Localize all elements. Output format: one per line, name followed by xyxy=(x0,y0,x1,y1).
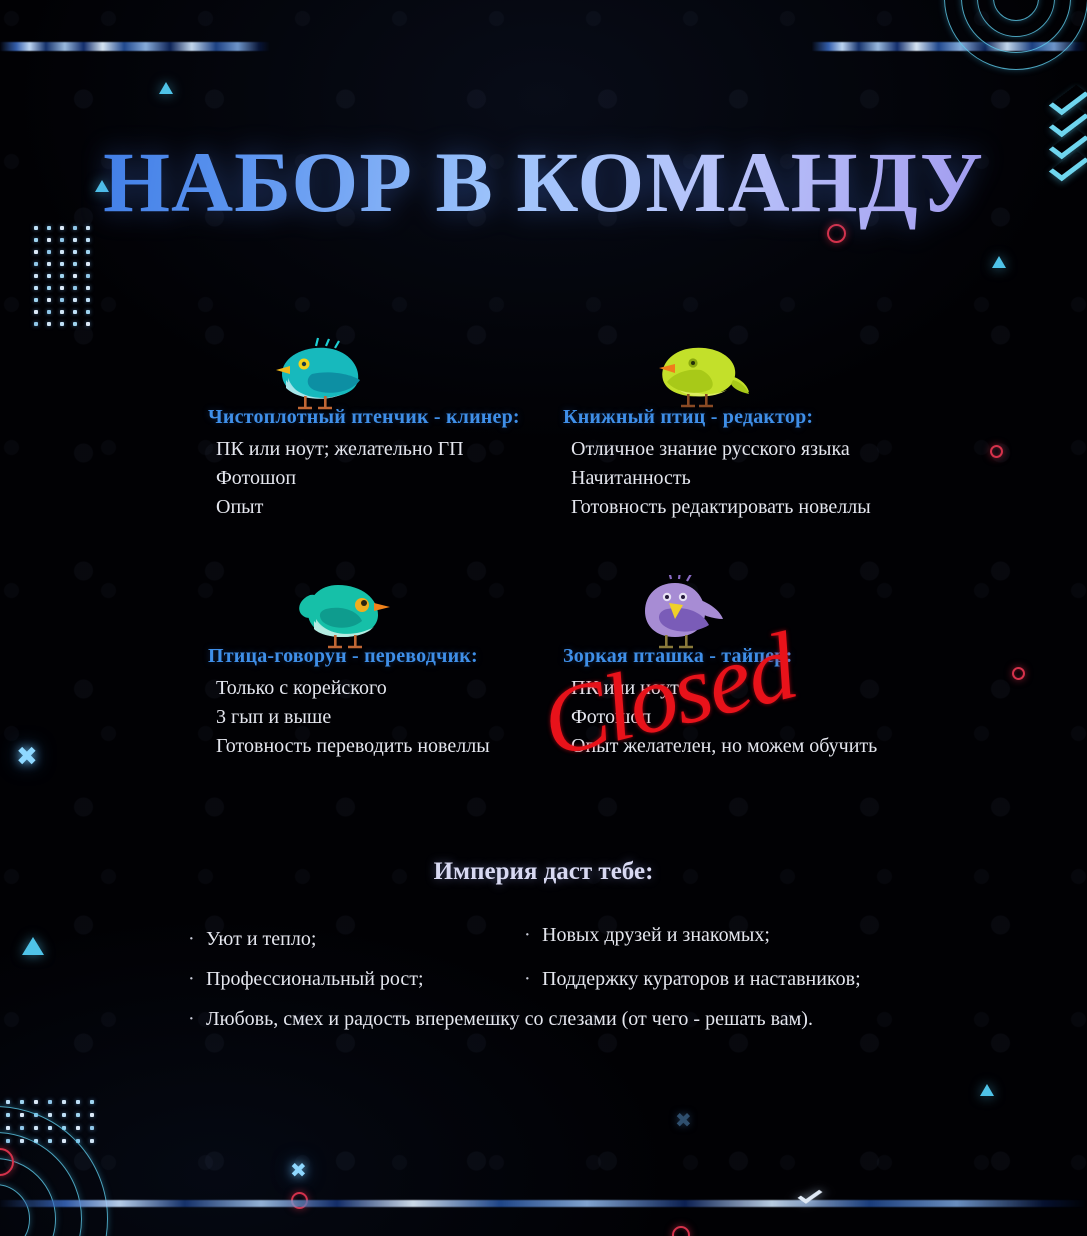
perk-bullet: · xyxy=(188,968,206,991)
job-heading: Зоркая пташка - тайпер: xyxy=(563,645,963,668)
triangle-accent-upper-right xyxy=(992,256,1006,268)
job-requirement: Опыт желателен, но можем обучить xyxy=(563,732,963,761)
perk-bullet: · xyxy=(188,928,206,951)
bird-green-editor-icon xyxy=(653,336,749,410)
perk-label: Новых друзей и знакомых; xyxy=(542,924,770,946)
job-requirement: Фотошоп xyxy=(208,464,608,493)
job-requirement: Опыт xyxy=(208,493,608,522)
job-requirement: Готовность переводить новеллы xyxy=(208,732,608,761)
job-card-typer: Зоркая пташка - тайпер: ПК или ноут Фото… xyxy=(563,645,963,761)
perk-item: ·Уют и тепло; xyxy=(188,928,316,951)
perk-bullet: · xyxy=(524,924,542,947)
job-requirement: Начитанность xyxy=(563,464,963,493)
job-heading: Птица-говорун - переводчик: xyxy=(208,645,608,668)
page-title: НАБОР В КОМАНДУ xyxy=(0,132,1087,232)
bottom-streak-bar xyxy=(0,1200,1087,1207)
perk-item: ·Новых друзей и знакомых; xyxy=(524,924,770,947)
x-marker-bottom-center: ✖ xyxy=(675,1110,692,1130)
perk-label: Профессиональный рост; xyxy=(206,968,424,990)
top-streak-bar-left xyxy=(0,42,270,51)
job-requirement: Готовность редактировать новеллы xyxy=(563,493,963,522)
job-requirement: Только с корейского xyxy=(208,674,608,703)
perk-label: Поддержку кураторов и наставников; xyxy=(542,968,861,990)
perk-bullet: · xyxy=(524,968,542,991)
job-card-translator: Птица-говорун - переводчик: Только с кор… xyxy=(208,645,608,761)
perk-bullet: · xyxy=(188,1008,206,1031)
job-requirements: Только с корейского 3 гып и выше Готовно… xyxy=(208,674,608,761)
job-requirement: Отличное знание русского языка xyxy=(563,435,963,464)
job-requirement: ПК или ноут; желательно ГП xyxy=(208,435,608,464)
recruitment-poster: ✖ ✖ ✖ НАБОР В КОМАНДУ xyxy=(0,0,1087,1236)
job-requirement: 3 гып и выше xyxy=(208,703,608,732)
perk-item: ·Поддержку кураторов и наставников; xyxy=(524,968,861,991)
crimson-ring-mid-right xyxy=(990,445,1003,458)
perk-item: ·Любовь, смех и радость вперемешку со сл… xyxy=(188,1008,813,1031)
job-requirements: Отличное знание русского языка Начитанно… xyxy=(563,435,963,522)
x-marker-bottom-left: ✖ xyxy=(290,1160,307,1180)
triangle-accent-left xyxy=(22,937,44,955)
triangle-accent-bottom-right xyxy=(980,1084,994,1096)
bird-turquoise-translator-icon xyxy=(296,575,392,649)
perk-label: Любовь, смех и радость вперемешку со сле… xyxy=(206,1008,813,1030)
x-marker-left: ✖ xyxy=(16,744,38,770)
perk-item: ·Профессиональный рост; xyxy=(188,968,424,991)
job-requirement: ПК или ноут xyxy=(563,674,963,703)
triangle-accent-top xyxy=(159,82,173,94)
perk-label: Уют и тепло; xyxy=(206,928,316,950)
crimson-ring-bottom-center xyxy=(672,1226,690,1236)
job-requirements: ПК или ноут; желательно ГП Фотошоп Опыт xyxy=(208,435,608,522)
perks-title: Империя даст тебе: xyxy=(0,858,1087,886)
job-card-editor: Книжный птиц - редактор: Отличное знание… xyxy=(563,406,963,522)
job-requirement: Фотошоп xyxy=(563,703,963,732)
bird-teal-cleaner-icon xyxy=(268,336,364,410)
job-heading: Книжный птиц - редактор: xyxy=(563,406,963,429)
crimson-ring-lower-right xyxy=(1012,667,1025,680)
bird-purple-typer-icon xyxy=(631,575,727,649)
job-card-cleaner: Чистоплотный птенчик - клинер: ПК или но… xyxy=(208,406,608,522)
job-requirements: ПК или ноут Фотошоп Опыт желателен, но м… xyxy=(563,674,963,761)
